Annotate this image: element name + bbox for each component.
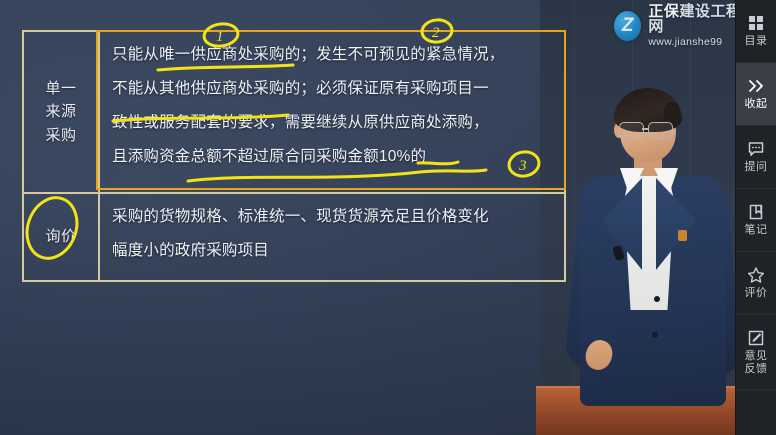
table-row-label: 单一 来源 采购 <box>24 32 100 192</box>
lapel-badge <box>678 230 687 241</box>
table-row: 询价 采购的货物规格、标准统一、现货货源充足且价格变化 幅度小的政府采购项目 <box>24 192 564 280</box>
presenter <box>558 78 748 435</box>
toolbar-item-feedback[interactable]: 意见 反馈 <box>736 315 776 390</box>
brand-logo-icon: Z <box>614 11 641 41</box>
toolbar-item-rating[interactable]: 评价 <box>736 252 776 315</box>
row-label-line: 来源 <box>45 103 76 120</box>
toolbar-item-collapse[interactable]: 收起 <box>736 63 776 126</box>
row-label-line: 采购 <box>45 127 76 144</box>
toolbar-item-label: 笔记 <box>745 224 768 237</box>
toolbar-item-label: 目录 <box>745 35 768 48</box>
body-line: 采购的货物规格、标准统一、现货货源充足且价格变化 <box>112 200 556 234</box>
body-line: 不能从其他供应商处采购的；必须保证原有采购项目一 <box>112 72 556 106</box>
toolbar-spacer <box>736 390 776 435</box>
toolbar-item-label: 提问 <box>745 161 768 174</box>
table-row-body: 只能从唯一供应商处采购的；发生不可预见的紧急情况， 不能从其他供应商处采购的；必… <box>100 32 564 192</box>
note-book-icon <box>747 203 765 221</box>
row-label-line: 单一 <box>45 80 76 97</box>
video-player-stage: 单一 来源 采购 只能从唯一供应商处采购的；发生不可预见的紧急情况， 不能从其他… <box>0 0 776 435</box>
toolbar-item-ask[interactable]: 提问 <box>736 126 776 189</box>
toolbar-item-label-line: 反馈 <box>745 363 768 375</box>
chat-bubble-icon <box>747 140 765 158</box>
row-label-line: 询价 <box>45 225 76 248</box>
toolbar-item-label-line: 意见 <box>745 350 768 362</box>
body-line: 只能从唯一供应商处采购的；发生不可预见的紧急情况， <box>112 38 556 72</box>
presenter-glasses <box>618 122 680 137</box>
table-row-body: 采购的货物规格、标准统一、现货货源充足且价格变化 幅度小的政府采购项目 <box>100 194 564 280</box>
table-row: 单一 来源 采购 只能从唯一供应商处采购的；发生不可预见的紧急情况， 不能从其他… <box>24 32 564 192</box>
star-icon <box>747 266 765 284</box>
body-line: 幅度小的政府采购项目 <box>112 234 556 268</box>
chevron-right-double-icon <box>747 77 765 95</box>
player-right-toolbar: 目录 收起 提问 <box>735 0 776 435</box>
pencil-square-icon <box>747 329 765 347</box>
body-line: 且添购资金总额不超过原合同采购金额10%的 <box>112 140 556 174</box>
toolbar-item-label: 收起 <box>745 98 768 111</box>
toolbar-item-catalog[interactable]: 目录 <box>736 0 776 63</box>
slide-table: 单一 来源 采购 只能从唯一供应商处采购的；发生不可预见的紧急情况， 不能从其他… <box>22 30 566 282</box>
body-line: 致性或服务配套的要求，需要继续从原供应商处添购， <box>112 106 556 140</box>
toolbar-item-notes[interactable]: 笔记 <box>736 189 776 252</box>
table-row-label: 询价 <box>24 194 100 280</box>
grid-icon <box>747 14 765 32</box>
toolbar-item-label: 意见 反馈 <box>745 350 768 374</box>
toolbar-item-label: 评价 <box>745 287 768 300</box>
